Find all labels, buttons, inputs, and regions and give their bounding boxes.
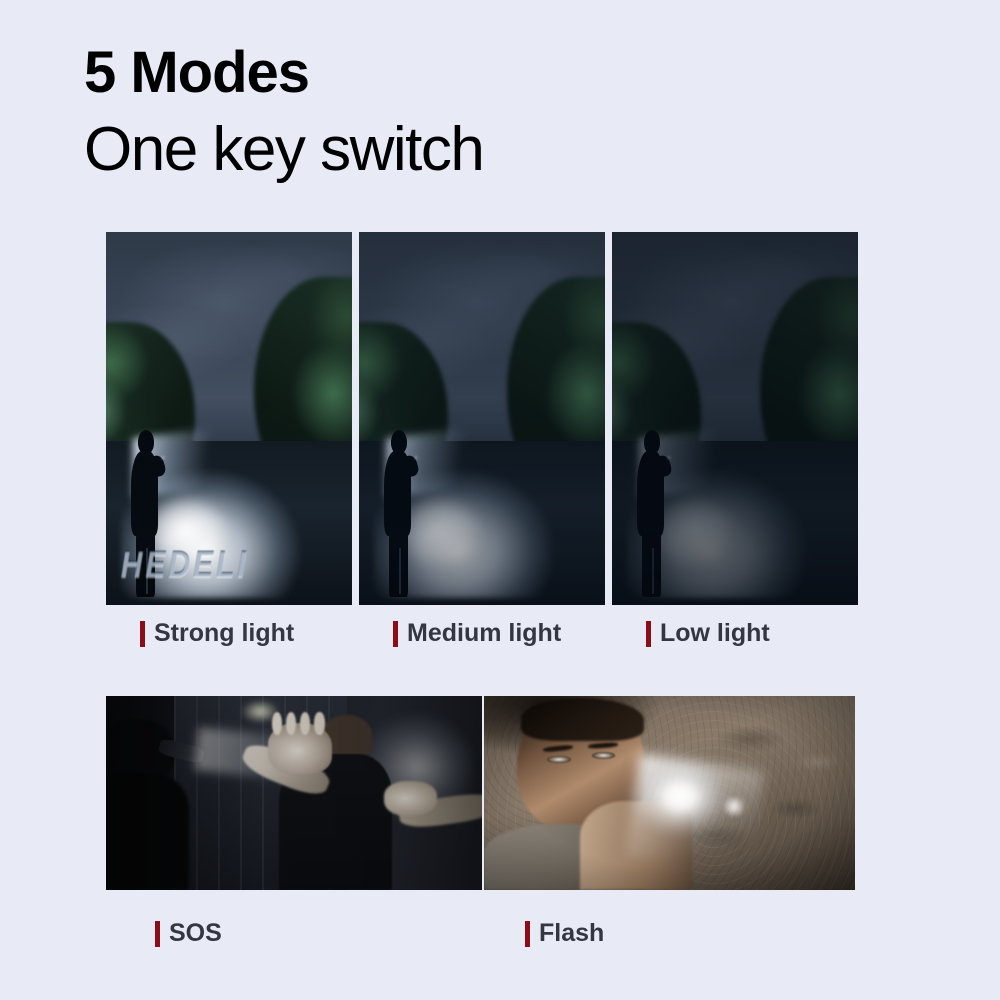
caption-medium-light: Medium light [393, 619, 561, 648]
self-defense-scene [106, 696, 482, 890]
accent-bar-icon [393, 621, 398, 647]
mode-image-medium-light [359, 232, 605, 605]
caption-strong-light: Strong light [140, 619, 294, 648]
caption-low-light: Low light [646, 619, 770, 648]
scene-vignette [106, 696, 482, 890]
heading-block: 5 Modes One key switch [84, 44, 483, 185]
product-feature-banner: 5 Modes One key switch HEDELI [0, 0, 1000, 1000]
caption-label: Flash [539, 919, 604, 948]
brightness-dim-overlay [359, 232, 605, 605]
mode-image-sos [106, 696, 482, 890]
accent-bar-icon [140, 621, 145, 647]
caption-label: Low light [660, 619, 770, 648]
night-road-scene [359, 232, 605, 605]
handheld-flashlight-icon [161, 456, 164, 458]
brightness-dim-overlay [612, 232, 858, 605]
caption-sos: SOS [155, 919, 222, 948]
caption-label: SOS [169, 919, 222, 948]
accent-bar-icon [646, 621, 651, 647]
night-road-scene [612, 232, 858, 605]
flash-portrait-scene [484, 696, 855, 890]
mode-image-low-light [612, 232, 858, 605]
page-subtitle: One key switch [84, 114, 483, 185]
caption-flash: Flash [525, 919, 604, 948]
caption-label: Strong light [154, 619, 294, 648]
accent-bar-icon [525, 921, 530, 947]
caption-label: Medium light [407, 619, 561, 648]
mode-image-flash [484, 696, 855, 890]
night-road-scene: HEDELI [106, 232, 352, 605]
brand-watermark: HEDELI [121, 536, 323, 597]
scene-vignette [484, 696, 855, 890]
page-title: 5 Modes [84, 44, 483, 102]
mode-image-strong-light: HEDELI [106, 232, 352, 605]
accent-bar-icon [155, 921, 160, 947]
